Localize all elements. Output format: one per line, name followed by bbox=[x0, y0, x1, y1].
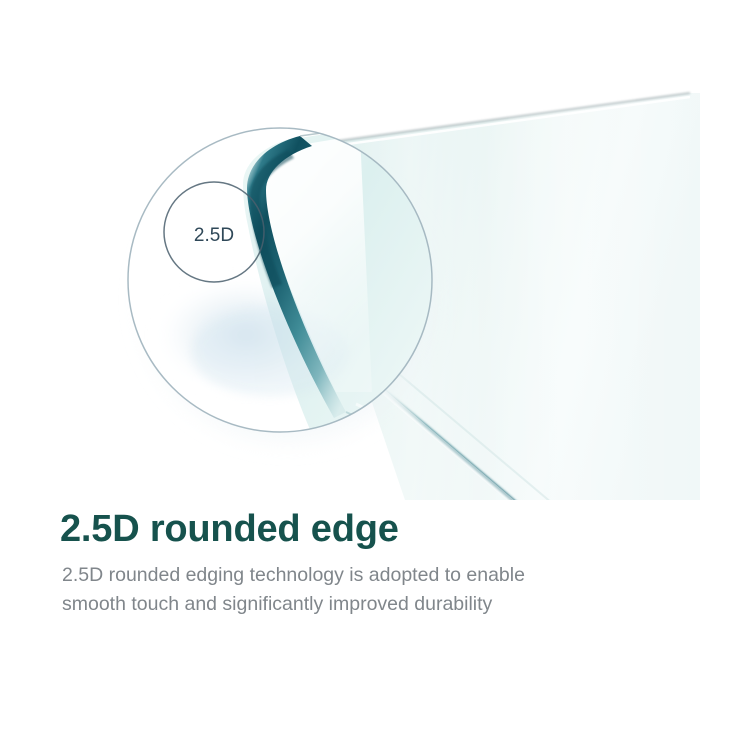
magnifier-label: 2.5D bbox=[194, 225, 234, 246]
description-line-2: smooth touch and significantly improved … bbox=[62, 590, 690, 619]
feature-description: 2.5D rounded edging technology is adopte… bbox=[62, 561, 690, 619]
description-line-1: 2.5D rounded edging technology is adopte… bbox=[62, 561, 690, 590]
product-feature-image: 2.5D 2.5D rounded edge 2.5D rounded edgi… bbox=[0, 0, 750, 750]
glass-edge-illustration: 2.5D bbox=[0, 0, 750, 500]
glass-illustration-svg: 2.5D bbox=[0, 0, 750, 500]
caption-block: 2.5D rounded edge 2.5D rounded edging te… bbox=[0, 505, 750, 619]
feature-headline: 2.5D rounded edge bbox=[60, 505, 690, 553]
